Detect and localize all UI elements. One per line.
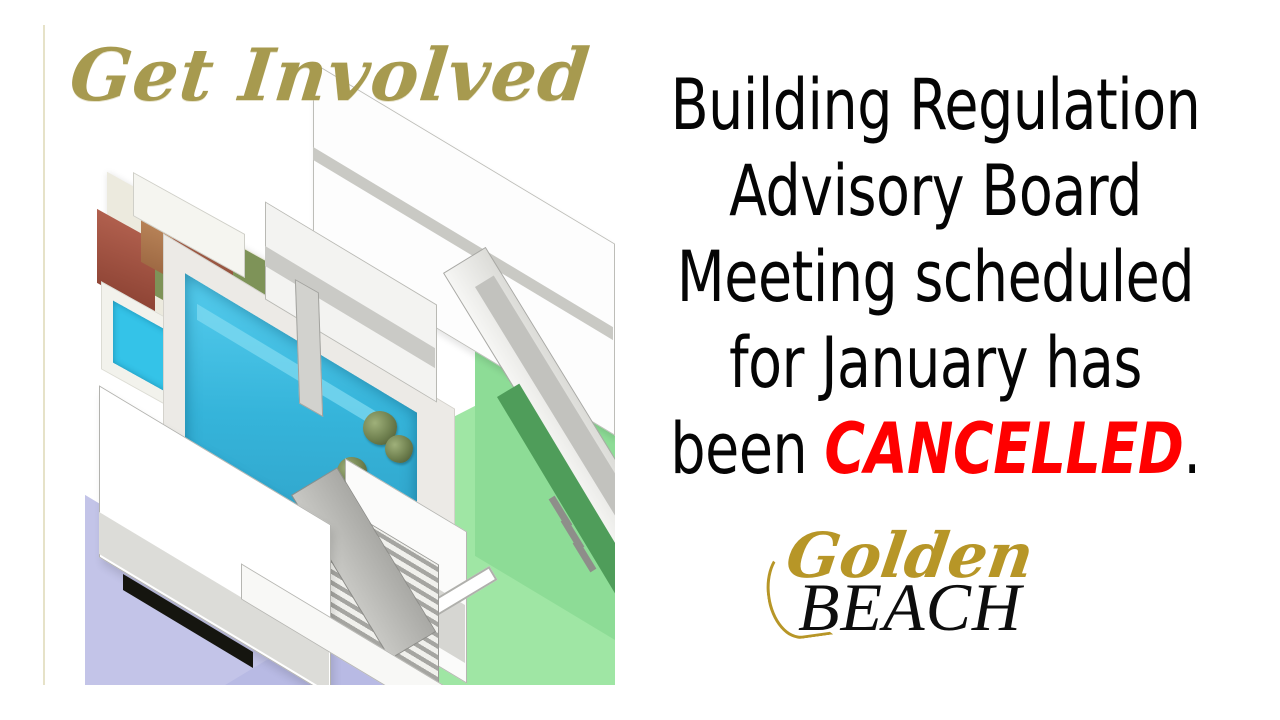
courtyard-plant — [385, 435, 413, 463]
wall-fin — [295, 279, 323, 417]
cancelled-emphasis: CANCELLED — [824, 408, 1183, 490]
get-involved-flyer-image: Get Involved — [43, 25, 615, 685]
golden-beach-logo: Golden BEACH — [745, 525, 1075, 665]
slide-canvas: Get Involved Building Regulation Advisor… — [0, 0, 1280, 720]
announcement-line-2: Advisory Board — [652, 148, 1220, 234]
announcement-text-block: Building Regulation Advisory Board Meeti… — [652, 62, 1220, 492]
announcement-line-1: Building Regulation — [652, 62, 1220, 148]
announcement-line-3: Meeting scheduled — [652, 234, 1220, 320]
announcement-line-4: for January has — [652, 320, 1220, 406]
announcement-line-5-suffix: . — [1183, 408, 1200, 490]
flyer-canvas: Get Involved — [45, 25, 615, 685]
announcement-line-5-prefix: been — [670, 408, 824, 490]
announcement-line-5: been CANCELLED. — [652, 406, 1220, 492]
logo-word-beach: BEACH — [745, 573, 1075, 641]
flyer-title: Get Involved — [43, 39, 615, 111]
